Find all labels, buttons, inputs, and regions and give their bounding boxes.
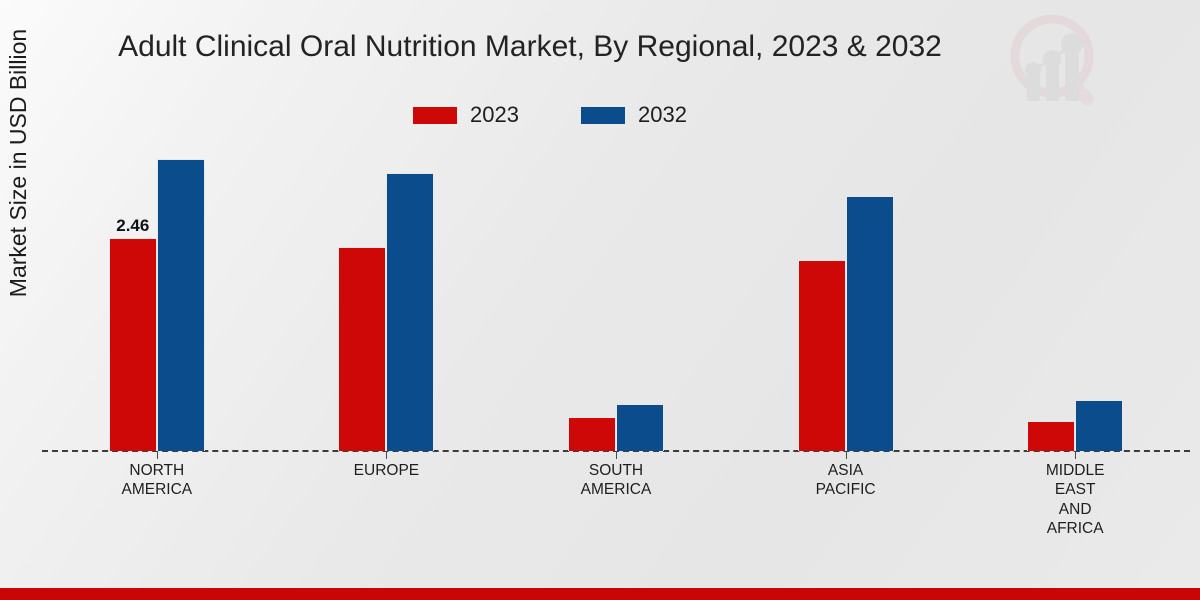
- bar-groups: 2.46NORTH AMERICAEUROPESOUTH AMERICAASIA…: [42, 140, 1190, 451]
- bar-2032-middle-east-and-africa[interactable]: [1075, 400, 1123, 451]
- bar-group: MIDDLE EAST AND AFRICA: [960, 140, 1190, 451]
- chart-legend: 2023 2032: [0, 104, 1200, 126]
- legend-item-2023[interactable]: 2023: [413, 104, 519, 126]
- bar-group: EUROPE: [272, 140, 502, 451]
- legend-swatch-2032: [581, 107, 625, 124]
- plot-area: 2.46NORTH AMERICAEUROPESOUTH AMERICAASIA…: [42, 140, 1190, 452]
- legend-item-2032[interactable]: 2032: [581, 104, 687, 126]
- footer-strip: [0, 588, 1200, 600]
- bar-2032-north-america[interactable]: [157, 159, 205, 451]
- x-axis-tick: [846, 451, 847, 459]
- bar-pair: 2.46: [109, 140, 205, 451]
- bar-value-label: 2.46: [116, 216, 149, 236]
- bar-group: ASIA PACIFIC: [731, 140, 961, 451]
- bar-pair: [568, 140, 664, 451]
- bar-pair: [798, 140, 894, 451]
- x-axis-tick: [157, 451, 158, 459]
- legend-label-2032: 2032: [638, 104, 687, 126]
- bar-group: 2.46NORTH AMERICA: [42, 140, 272, 451]
- x-axis-label: NORTH AMERICA: [121, 461, 192, 500]
- bar-2032-asia-pacific[interactable]: [846, 196, 894, 451]
- y-axis-title: Market Size in USD Billion: [5, 0, 39, 343]
- bar-pair: [338, 140, 434, 451]
- bar-pair: [1027, 140, 1123, 451]
- bar-2032-europe[interactable]: [386, 173, 434, 451]
- bar-2023-middle-east-and-africa[interactable]: [1027, 421, 1075, 451]
- bar-2032-south-america[interactable]: [616, 404, 664, 452]
- bar-group: SOUTH AMERICA: [501, 140, 731, 451]
- chart-title: Adult Clinical Oral Nutrition Market, By…: [0, 30, 1060, 64]
- bar-2023-south-america[interactable]: [568, 417, 616, 451]
- legend-swatch-2023: [413, 107, 457, 124]
- x-axis-tick: [386, 451, 387, 459]
- bar-2023-north-america[interactable]: 2.46: [109, 238, 157, 451]
- x-axis-label: SOUTH AMERICA: [581, 461, 652, 500]
- legend-label-2023: 2023: [470, 104, 519, 126]
- chart-canvas: Adult Clinical Oral Nutrition Market, By…: [0, 0, 1200, 600]
- x-axis-tick: [1075, 451, 1076, 459]
- x-axis-tick: [616, 451, 617, 459]
- x-axis-label: EUROPE: [354, 461, 419, 480]
- x-axis-label: ASIA PACIFIC: [816, 461, 876, 500]
- bar-2023-asia-pacific[interactable]: [798, 260, 846, 451]
- x-axis-label: MIDDLE EAST AND AFRICA: [1046, 461, 1105, 539]
- bar-2023-europe[interactable]: [338, 247, 386, 451]
